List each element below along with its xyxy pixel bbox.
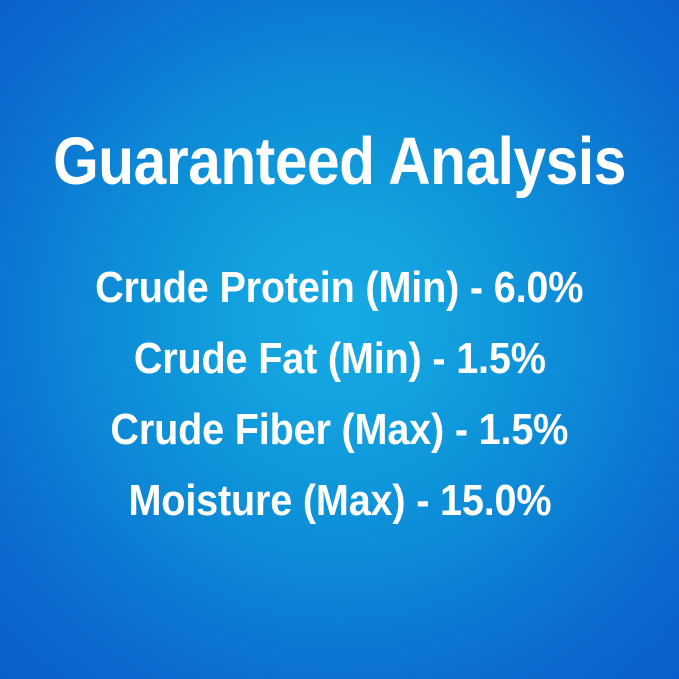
analysis-row-label: Crude Protein (Min) - 6.0% bbox=[95, 262, 583, 314]
list-item: Crude Fat (Min) - 1.5% bbox=[0, 333, 679, 404]
guaranteed-analysis-panel: Guaranteed Analysis Crude Protein (Min) … bbox=[0, 0, 679, 679]
analysis-row-label: Crude Fiber (Max) - 1.5% bbox=[111, 404, 569, 456]
analysis-row-label: Crude Fat (Min) - 1.5% bbox=[134, 333, 546, 385]
analysis-row-label: Moisture (Max) - 15.0% bbox=[128, 475, 551, 527]
list-item: Moisture (Max) - 15.0% bbox=[0, 475, 679, 546]
panel-content: Guaranteed Analysis Crude Protein (Min) … bbox=[0, 0, 679, 679]
page-title: Guaranteed Analysis bbox=[42, 128, 636, 195]
list-item: Crude Protein (Min) - 6.0% bbox=[0, 262, 679, 333]
guaranteed-analysis-list: Crude Protein (Min) - 6.0% Crude Fat (Mi… bbox=[0, 262, 679, 546]
list-item: Crude Fiber (Max) - 1.5% bbox=[0, 404, 679, 475]
